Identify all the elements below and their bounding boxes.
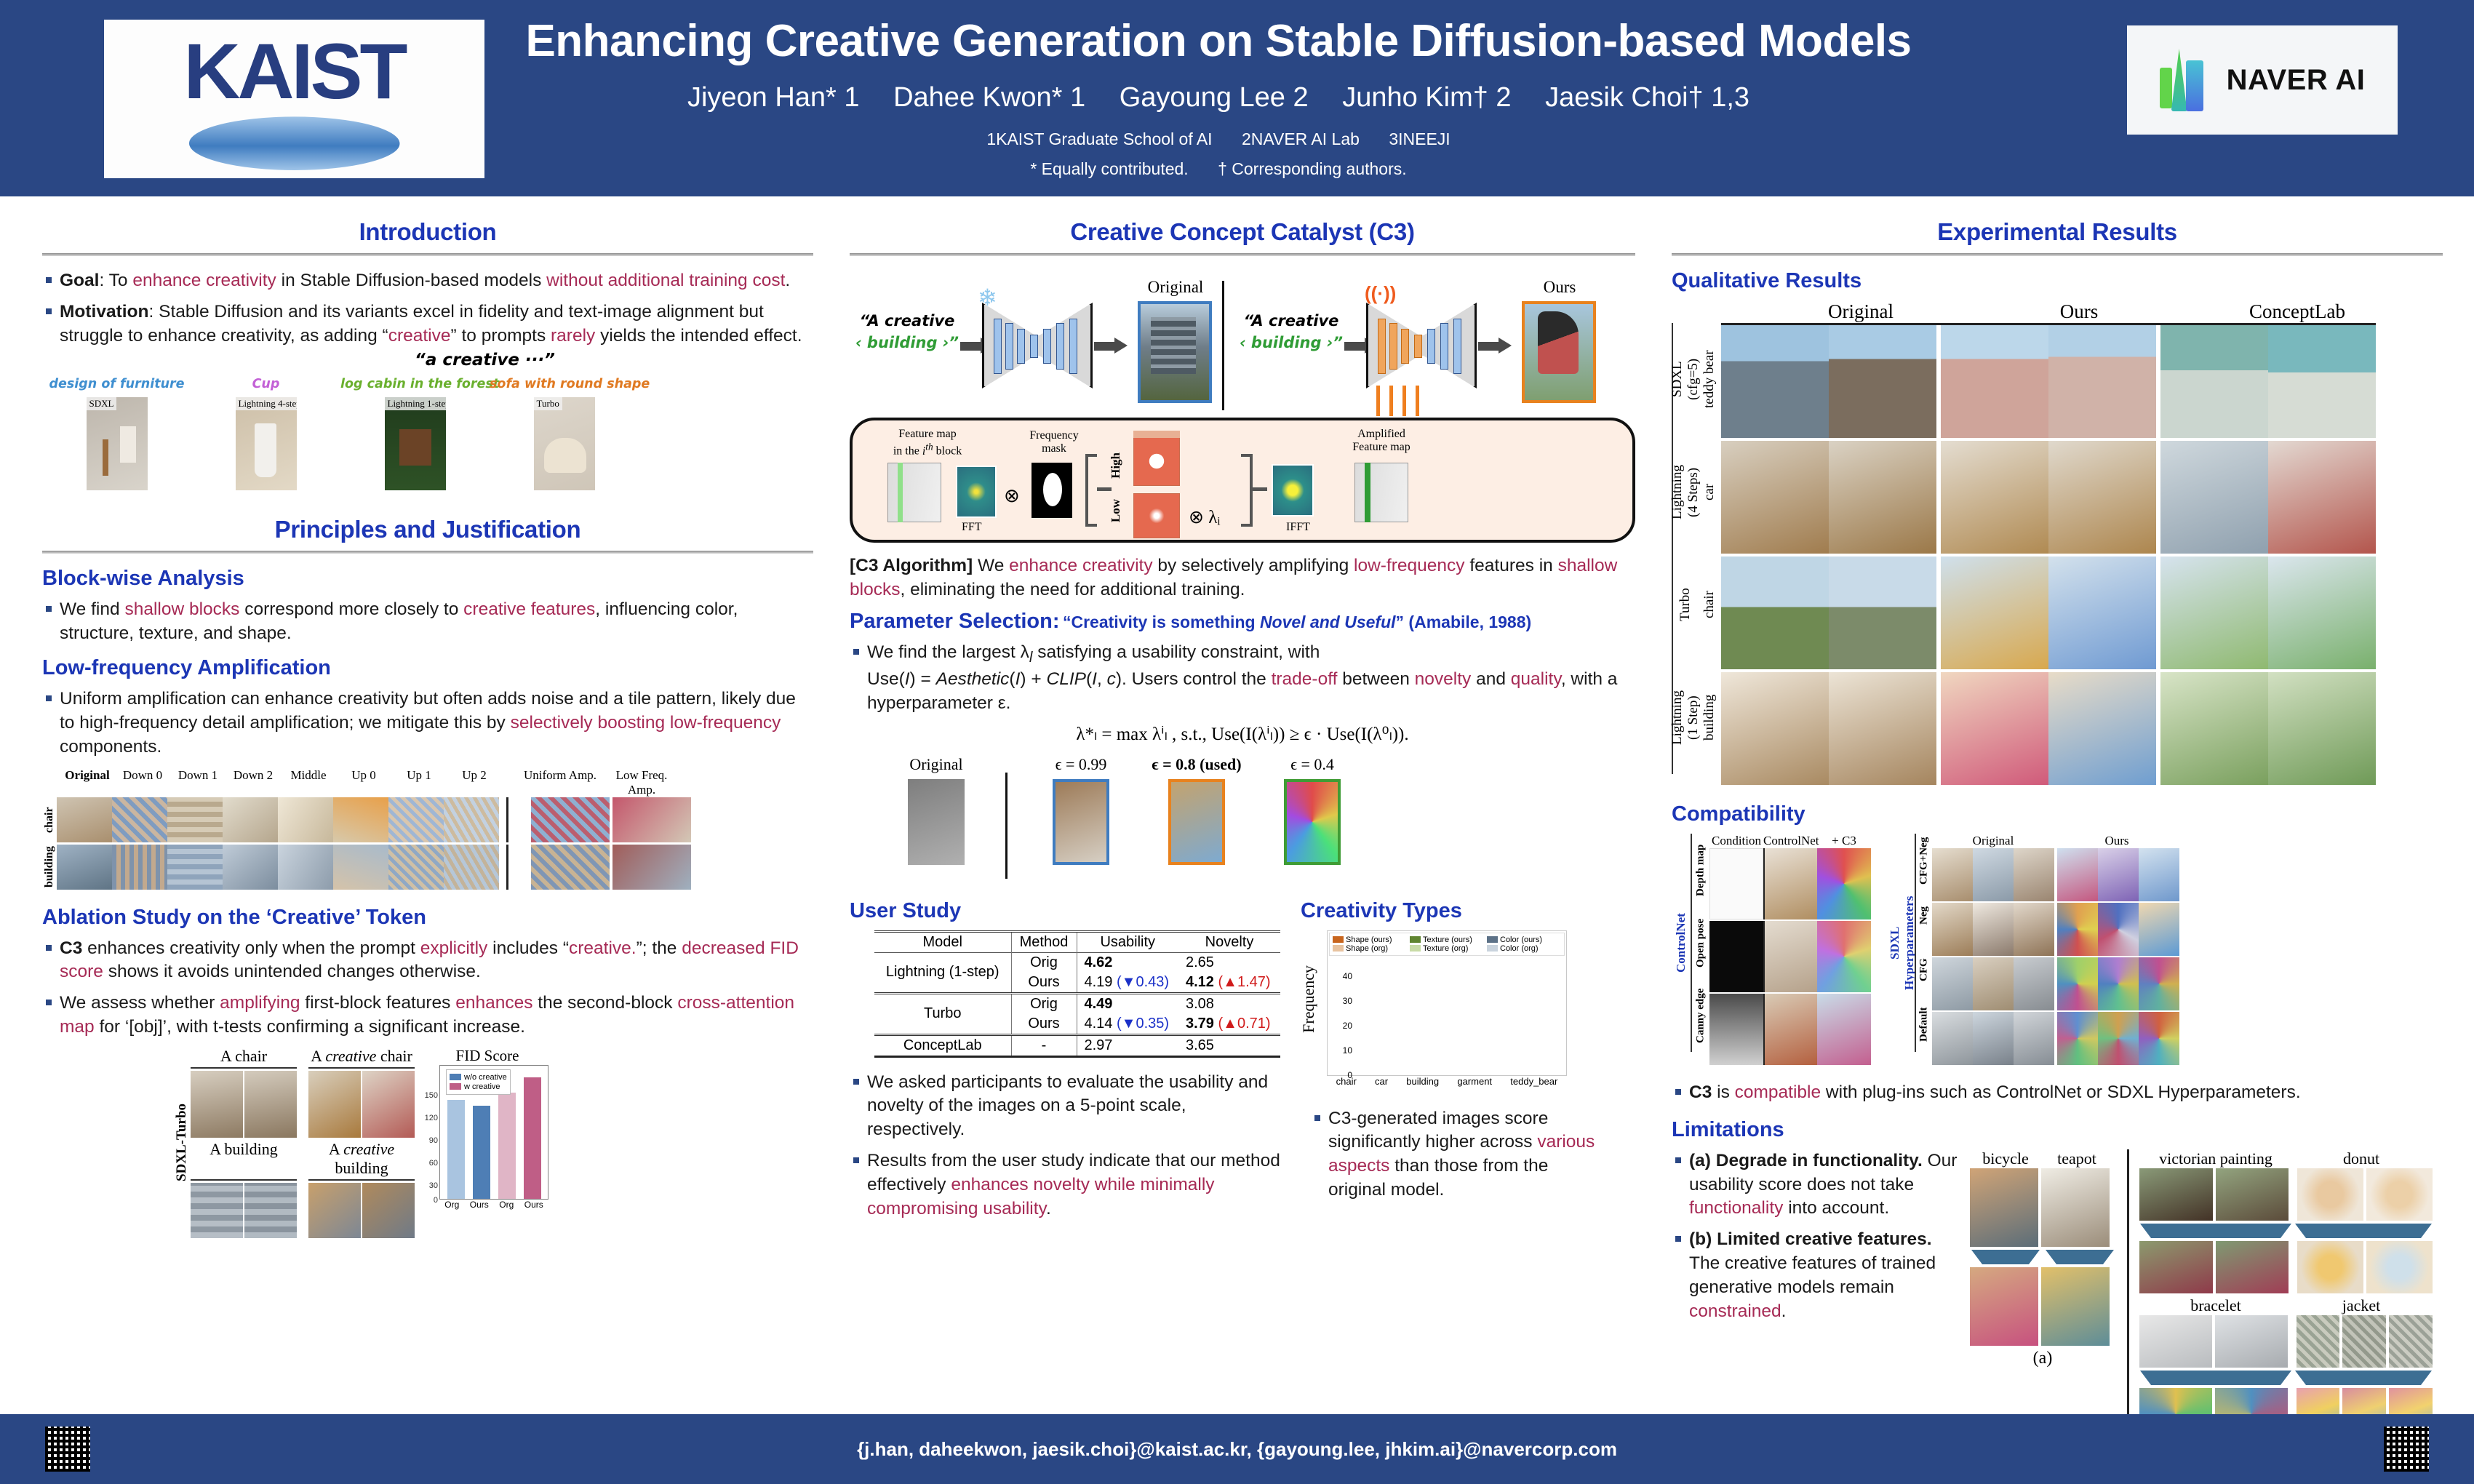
cell-model: Lightning (1-step) [874,952,1011,993]
pipeline-caption-ours: Ours [1519,278,1600,297]
author-list: Jiyeon Han* 1 Dahee Kwon* 1 Gayoung Lee … [509,82,1928,113]
ablation-bullets: C3 enhances creativity only when the pro… [42,937,813,1040]
qual-row-building [1721,325,2376,438]
compat-row: Open pose [1695,906,1707,979]
row-label-chair: chair [42,797,57,842]
legend-label: Texture (ours) [1423,936,1472,944]
cell-method: Ours [1011,973,1077,994]
epsilon-comparison-figure: Original ϵ = 0.99 ϵ = 0.8 (used) ϵ = 0.4 [867,755,1635,879]
sample-image: Lightning 1-step [385,397,446,490]
user-study-table: Model Method Usability Novelty Lightning… [874,930,1280,1058]
pipeline-image-ours [1522,301,1596,403]
subsection-lowfreq-amplification: Low-frequency Amplification [42,656,813,680]
creative-prompt-label: “a creative ···” [415,351,555,370]
col-header: Middle [281,768,336,797]
col-header: Low Freq. Amp. [601,768,682,797]
lim-caption: bracelet [2139,1296,2292,1315]
poster-header: KAIST Enhancing Creative Generation on S… [0,0,2474,196]
affiliation: 1KAIST Graduate School of AI [986,129,1212,148]
cell-model: Turbo [874,993,1011,1034]
bullet-creativity: C3-generated images score significantly … [1311,1107,1602,1202]
chart-bar-groups [1329,965,1565,1075]
bullet-lowfreq: Uniform amplification can enhance creati… [42,687,813,759]
label-high: High [1109,452,1123,479]
qual-col-header: ConceptLab [2188,300,2406,323]
th-method: Method [1011,931,1077,952]
lim-caption: victorian painting [2139,1149,2292,1168]
model-tag: Turbo [534,397,562,410]
compat-header: ControlNet [1763,834,1817,848]
qual-row-chair [1721,441,2376,554]
intro-sample: sofa with round shape Turbo [490,377,639,490]
xtick: garment [1457,1076,1492,1087]
th-novelty: Novelty [1178,931,1280,952]
ablation-figure: SDXL-Turbo A chair A creative chair A bu… [173,1047,813,1238]
divider [42,253,813,256]
bullet-limitation-b: (b) Limited creative features. The creat… [1672,1228,1963,1323]
qual-object: teddy bear [1701,323,1717,436]
intro-sample: Cup Lightning 4-step [191,377,340,490]
subsection-creativity-types: Creativity Types [1301,899,1606,923]
compat-header: Original [1932,834,2054,848]
bullet-param: We find the largest λl satisfying a usab… [850,641,1635,716]
author: Jiyeon Han* 1 [687,82,860,113]
equal-contribution-note: * Equally contributed. [1030,159,1188,178]
lim-caption: jacket [2292,1296,2430,1315]
compat-row: CFG [1918,943,1931,997]
bullet-user-2: Results from the user study indicate tha… [850,1149,1286,1221]
lim-tag-a: (a) [1970,1349,2115,1368]
title-block: Enhancing Creative Generation on Stable … [509,16,1928,181]
page-title: Enhancing Creative Generation on Stable … [509,16,1928,66]
eps-caption: ϵ = 0.99 [1026,755,1136,774]
bullet-ablation-1: C3 enhances creativity only when the pro… [42,937,813,985]
xtick: Org [499,1200,514,1210]
col-header-a-creative-building: A creative building [308,1140,415,1178]
affiliations: 1KAIST Graduate School of AI 2NAVER AI L… [509,127,1928,181]
author: Gayoung Lee 2 [1120,82,1309,113]
qual-object: car [1701,436,1717,548]
bar-org-wo [447,1100,465,1199]
xtick: teddy_bear [1510,1076,1557,1087]
ytick: 30 [429,1181,438,1190]
pipeline-image-original [1138,301,1212,403]
results-row: User Study Model Method Usability Novelt… [850,899,1635,1229]
cell-method: Orig [1011,993,1077,1014]
prompt-caption: Cup [191,377,340,391]
section-title-principles: Principles and Justification [42,516,813,543]
qual-row-teddy-bear [1721,672,2376,785]
user-study-bullets: We asked participants to evaluate the us… [850,1071,1286,1221]
row-label-sdxl-turbo: SDXL-Turbo [173,1047,191,1238]
table-row: Turbo Orig 4.49 3.08 [874,993,1280,1014]
affiliation: 3INEEJI [1389,129,1450,148]
author: Jaesik Choi† 1,3 [1545,82,1749,113]
pipeline-prompt-left: “A creative ‹ building ›” [853,310,962,354]
intro-sample: log cabin in the forest Lightning 1-step [340,377,490,490]
compat-header: Ours [2054,834,2179,848]
arrow-down-icon [1971,1250,2040,1264]
section-title-c3: Creative Concept Catalyst (C3) [850,218,1635,246]
eps-image [1284,779,1341,865]
bar-ours-w [524,1077,541,1199]
bullet-lead: Motivation [60,302,149,322]
arrow-down-icon [2140,1224,2291,1238]
arrow-down-icon [2140,1371,2291,1385]
cell-novelty: 4.12 [1186,974,1214,990]
cell-usability-delta: (▼0.35) [1117,1016,1169,1032]
subsection-user-study: User Study [850,899,1301,923]
bullet-lead: Goal [60,271,99,290]
arrow-down-icon [2046,1250,2114,1264]
legend-label: Texture (org) [1423,944,1468,953]
eps-image-original [908,779,965,865]
label-feature-map: Feature mapin the ith block [873,428,982,458]
pipeline-caption-original: Original [1135,278,1216,297]
poster-footer: {j.han, daheekwon, jaesik.choi}@kaist.ac… [0,1414,2474,1484]
compat-group-controlnet: ControlNet [1672,834,1691,1052]
qual-object-labels: building chair car teddy bear [1698,323,1721,774]
corresponding-note: † Corresponding authors. [1218,159,1407,178]
model-tag: SDXL [87,397,117,410]
compat-header: Condition [1709,834,1763,848]
arrow-down-icon [2295,1371,2432,1385]
ytick: 120 [425,1114,438,1122]
chart-xticks: chair car building garment teddy_bear [1327,1076,1567,1087]
qual-object: chair [1701,548,1717,661]
introduction-figure: “a creative ···” design of furniture SDX… [42,355,813,511]
section-title-introduction: Introduction [42,218,813,246]
blockwise-bullets: We find shallow blocks correspond more c… [42,598,813,646]
th-model: Model [874,931,1011,952]
compat-header: + C3 [1817,834,1871,848]
algo-paragraph: [C3 Algorithm] We enhance creativity by … [850,554,1635,602]
lim-caption: teapot [2041,1149,2112,1168]
kaist-lens-shape [189,116,400,170]
label-amplified-feature-map: AmplifiedFeature map [1327,428,1436,455]
cell-method: Orig [1011,952,1077,973]
introduction-bullets: Goal: To enhance creativity in Stable Di… [42,269,813,348]
lim-caption: donut [2292,1149,2430,1168]
label-lambda: ⊗ λᵢ [1189,506,1220,528]
xtick: Ours [524,1200,543,1210]
col-header: Down 1 [170,768,226,797]
creativity-types-chart: Shape (ours) Texture (ours) Color (ours)… [1327,930,1567,1076]
col-header-a-creative-chair: A creative chair [308,1047,415,1066]
bar-org-w [498,1093,516,1199]
eps-image [1053,779,1109,865]
compat-row-labels-left: Canny edge Open pose Depth map [1691,834,1709,1052]
frequency-amplification-diagram: Feature mapin the ith block FFT ⊗ Freque… [850,418,1635,543]
model-tag: Lightning 4-step [236,397,297,410]
cell-method: Ours [1011,1014,1077,1035]
contact-info: {j.han, daheekwon, jaesik.choi}@kaist.ac… [857,1438,1617,1461]
col-header: Down 0 [115,768,170,797]
prompt-caption: log cabin in the forest [340,377,490,391]
bullet-compatibility: C3 is compatible with plug-ins such as C… [1672,1081,2443,1105]
cell-novelty-delta: (▲1.47) [1218,974,1271,990]
bullet-ablation-2: We assess whether amplifying first-block… [42,992,813,1040]
chart-xticks: Org Ours Org Ours [439,1200,548,1210]
column-right: Experimental Results Qualitative Results… [1672,218,2443,1463]
bullet-limitation-a: (a) Degrade in functionality. Our usabil… [1672,1149,1963,1221]
xtick: car [1375,1076,1388,1087]
subsection-compatibility: Compatibility [1672,802,2443,826]
chart-ylabel: Frequency [1299,965,1318,1033]
qual-col-header: Ours [1970,300,2188,323]
kaist-logo-text: KAIST [184,30,405,112]
legend-label: Shape (ours) [1346,936,1392,944]
legend-label: w creative [464,1082,500,1091]
qr-code-left[interactable] [45,1427,90,1472]
kaist-logo: KAIST [104,20,484,178]
cell-usability: 4.19 [1085,974,1113,990]
cell-novelty-delta: (▲0.71) [1218,1016,1271,1032]
ytick: 90 [429,1136,438,1145]
label-frequency-mask: Frequencymask [1014,429,1094,456]
naver-logo-text: NAVER AI [2227,64,2366,97]
subsection-blockwise-analysis: Block-wise Analysis [42,567,813,591]
sample-image: Turbo [534,397,595,490]
col-header: Uniform Amp. [519,768,601,797]
model-tag: Lightning 1-step [385,397,446,410]
cell-novelty: 3.65 [1178,1034,1280,1056]
eps-caption: ϵ = 0.8 (used) [1136,755,1258,774]
qual-model-labels: Lightning(1 Step) Turbo Lightning(4 Step… [1672,323,1698,774]
divider [42,551,813,554]
col-header: Up 1 [391,768,447,797]
legend-label: Shape (org) [1346,944,1388,953]
affiliation: 2NAVER AI Lab [1242,129,1360,148]
arrow-down-icon [2295,1224,2432,1238]
cell-novelty: 3.79 [1186,1016,1214,1032]
bar-ours-wo [473,1106,490,1199]
author: Junho Kim† 2 [1342,82,1511,113]
qual-object: building [1701,661,1717,774]
snowflake-icon: ❄ [978,284,997,311]
cell-novelty: 2.65 [1186,954,1214,970]
subsection-qualitative-results: Qualitative Results [1672,269,2443,293]
xtick: Ours [470,1200,489,1210]
cell-usability: 4.49 [1085,996,1113,1012]
col-header-a-building: A building [191,1140,297,1178]
bullet-goal: Goal: To enhance creativity in Stable Di… [42,269,813,293]
label-fft: FFT [962,521,982,534]
col-header: Up 0 [336,768,391,797]
compatibility-figure: ControlNet Canny edge Open pose Depth ma… [1672,834,2443,1065]
param-bullets: We find the largest λl satisfying a usab… [850,641,1635,716]
signal-icon: ((·)) [1365,282,1396,305]
compat-row: Default [1918,997,1931,1052]
divider [1672,253,2443,256]
fid-score-chart: FID Score w/o creative w creative 30 60 [426,1047,548,1238]
ytick: 150 [425,1091,438,1100]
blockwise-figure: Original Down 0 Down 1 Down 2 Middle Up … [42,768,813,890]
ytick: 60 [429,1159,438,1168]
cell-usability: 2.97 [1077,1034,1178,1056]
eps-caption-original: Original [867,755,1005,774]
lowfreq-bullets: Uniform amplification can enhance creati… [42,687,813,759]
table-row: ConceptLab - 2.97 3.65 [874,1034,1280,1056]
eps-image [1168,779,1225,865]
cell-method: - [1011,1034,1077,1056]
label-low: Low [1109,499,1123,522]
xtick: Org [444,1200,459,1210]
table-header-row: Model Method Usability Novelty [874,931,1280,952]
intro-sample: design of furniture SDXL [42,377,191,490]
chart-title-fid: FID Score [426,1047,548,1065]
table-row: Lightning (1-step) Orig 4.62 2.65 [874,952,1280,973]
compat-row: Canny edge [1695,979,1707,1052]
eps-caption: ϵ = 0.4 [1258,755,1367,774]
column-middle: Creative Concept Catalyst (C3) “A creati… [850,218,1635,1229]
cell-usability-delta: (▼0.43) [1117,974,1169,990]
row-label-building: building [42,845,57,890]
c3-algorithm-text: [C3 Algorithm] We enhance creativity by … [850,554,1635,602]
qr-code-right[interactable] [2384,1427,2429,1472]
qual-row-car [1721,556,2376,669]
compatibility-bullets: C3 is compatible with plug-ins such as C… [1672,1081,2443,1105]
compat-row: Depth map [1695,834,1707,906]
naver-mark-icon [2160,49,2214,111]
col-header: Original [60,768,115,797]
cell-model: ConceptLab [874,1034,1011,1056]
bullet-motivation: Motivation: Stable Diffusion and its var… [42,300,813,348]
legend-label: Color (org) [1500,944,1539,953]
naver-ai-logo: NAVER AI [2127,25,2398,135]
chart-plot-area: w/o creative w creative [439,1065,548,1200]
divider [850,253,1635,256]
bullet-user-1: We asked participants to evaluate the us… [850,1071,1286,1142]
bullet-blockwise: We find shallow blocks correspond more c… [42,598,813,646]
column-left: Introduction Goal: To enhance creativity… [42,218,813,1238]
compat-group-sdxl: SDXLHyperparameters [1890,834,1915,1052]
legend-label: Color (ours) [1500,936,1542,944]
prompt-caption: design of furniture [42,377,191,391]
th-usability: Usability [1077,931,1178,952]
ytick: 0 [434,1196,438,1205]
lim-caption: bicycle [1970,1149,2041,1168]
legend-label: w/o creative [464,1073,507,1082]
qualitative-results-grid: Original Ours ConceptLab Lightning(1 Ste… [1672,300,2443,785]
subsection-limitations: Limitations [1672,1118,2443,1142]
sample-image: SDXL [87,397,148,490]
sample-image: Lightning 4-step [236,397,297,490]
c3-pipeline-figure: “A creative ‹ building ›” ❄ Original [850,269,1635,415]
cell-usability: 4.14 [1085,1016,1113,1032]
prompt-caption: sofa with round shape [490,377,639,391]
chart-legend: w/o creative w creative [446,1069,511,1095]
pipeline-prompt-right: “A creative ‹ building ›” [1237,310,1346,354]
subsection-ablation-study: Ablation Study on the ‘Creative’ Token [42,906,813,930]
label-ifft: IFFT [1286,521,1310,534]
section-title-experimental-results: Experimental Results [1672,218,2443,246]
param-selection-quote: “Creativity is something Novel and Usefu… [1063,613,1531,631]
compat-row-labels-right: Default CFG Neg CFG+Neg [1915,834,1932,1052]
formula-lambda-star: λ*ₗ = max λⁱₗ , s.t., Use(I(λⁱₗ)) ≥ ϵ · … [850,723,1635,745]
param-selection-label: Parameter Selection: [850,610,1060,633]
compat-row: Neg [1918,888,1931,943]
author: Dahee Kwon* 1 [893,82,1085,113]
col-header: Up 2 [447,768,502,797]
xtick: chair [1336,1076,1357,1087]
compat-row: CFG+Neg [1918,834,1931,888]
xtick: building [1406,1076,1439,1087]
creativity-types-block: Creativity Types Frequency Shape (ours) … [1301,899,1606,1229]
cell-usability: 4.62 [1085,954,1113,970]
creativity-types-bullets: C3-generated images score significantly … [1311,1107,1602,1202]
col-header: Down 2 [226,768,281,797]
qual-col-header: Original [1752,300,1970,323]
chart-legend: Shape (ours) Texture (ours) Color (ours)… [1329,933,1565,956]
multiply-icon: ⊗ [1004,484,1020,507]
col-header-a-chair: A chair [191,1047,297,1066]
cell-novelty: 3.08 [1186,996,1214,1012]
